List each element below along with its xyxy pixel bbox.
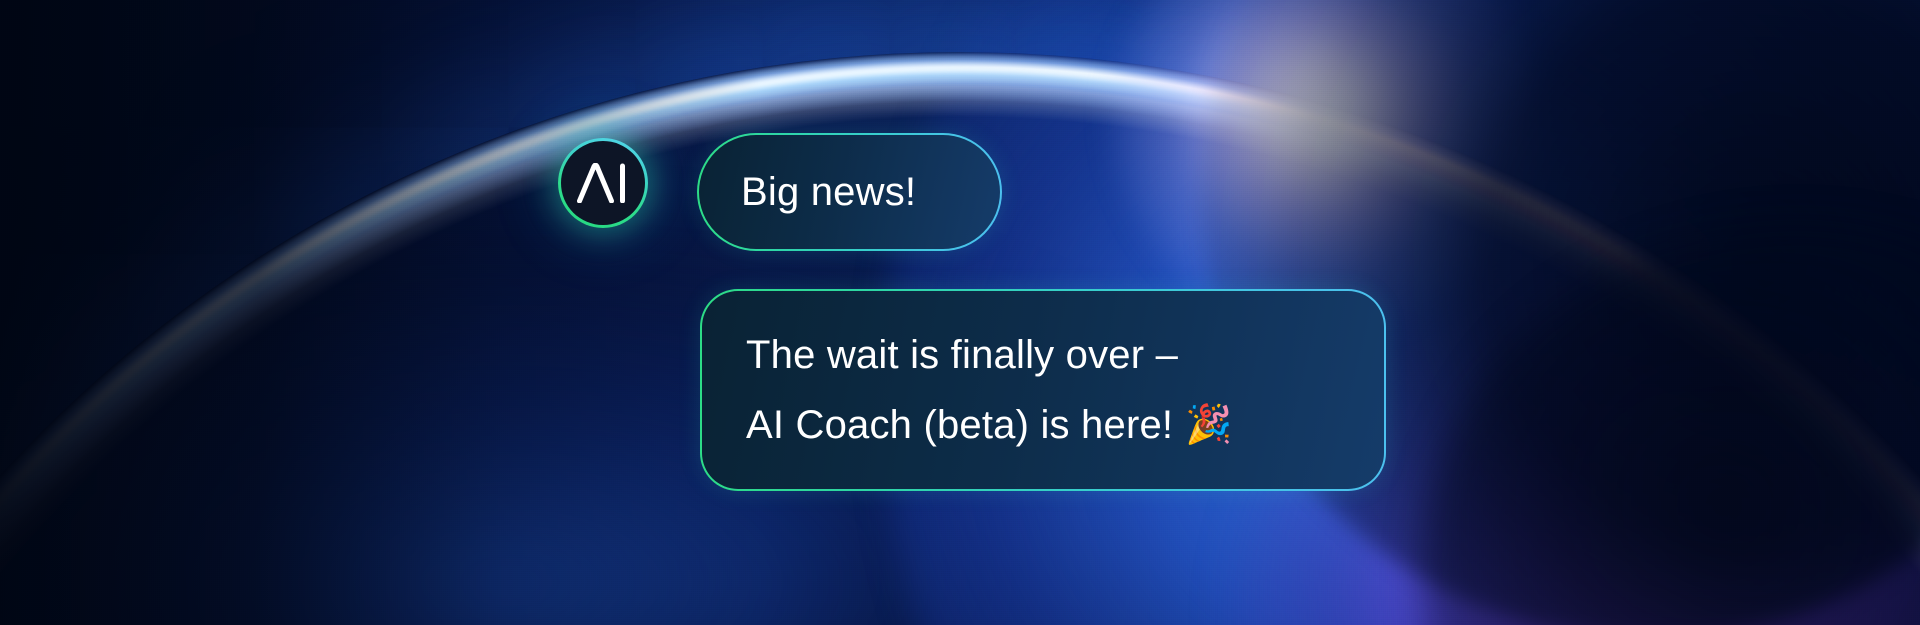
message-text-line-2: AI Coach (beta) is here! — [746, 405, 1173, 445]
message-bubble-big-news-body: Big news! — [699, 135, 1000, 249]
message-bubble-announcement: The wait is finally over – AI Coach (bet… — [700, 289, 1386, 491]
ai-logo-icon — [577, 163, 629, 203]
message-text-line-2-row: AI Coach (beta) is here! 🎉 — [746, 405, 1233, 445]
announcement-banner: Big news! The wait is finally over – AI … — [0, 0, 1920, 625]
message-bubble-announcement-body: The wait is finally over – AI Coach (bet… — [702, 291, 1384, 489]
message-text-line-1: The wait is finally over – — [746, 335, 1178, 375]
avatar — [558, 138, 648, 228]
chat-stack: Big news! The wait is finally over – AI … — [0, 0, 1920, 625]
message-bubble-big-news: Big news! — [697, 133, 1002, 251]
party-popper-icon: 🎉 — [1185, 406, 1233, 444]
message-text-big-news: Big news! — [741, 172, 916, 212]
avatar-disc — [561, 141, 645, 225]
